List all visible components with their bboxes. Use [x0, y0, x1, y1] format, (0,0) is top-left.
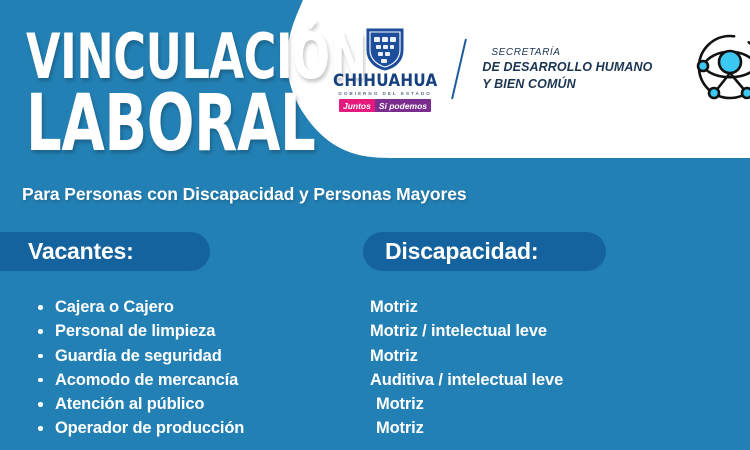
- list-item: Atención al público: [38, 392, 244, 416]
- list-item: Motriz: [370, 295, 563, 319]
- list-item: Motriz / intelectual leve: [370, 319, 563, 343]
- list-item: Personal de limpieza: [38, 319, 244, 343]
- tagline-juntos: Juntos: [339, 99, 375, 112]
- poster-canvas: VINCULACIÓN LABORAL Para Personas con Di…: [0, 0, 750, 450]
- section-header-discapacidad: Discapacidad:: [363, 232, 606, 271]
- tagline-si-podemos: Sí podemos: [375, 99, 431, 112]
- chihuahua-subtitle: GOBIERNO DEL ESTADO: [338, 91, 431, 96]
- poster-title: VINCULACIÓN LABORAL: [26, 28, 326, 161]
- title-line-2: LABORAL: [26, 89, 266, 161]
- section-header-vacantes: Vacantes:: [0, 232, 210, 271]
- secretaria-line-3: Y BIEN COMÚN: [482, 76, 652, 93]
- list-item: Acomodo de mercancía: [38, 368, 244, 392]
- secretaria-line-1: SECRETARÍA: [482, 46, 652, 59]
- poster-subtitle: Para Personas con Discapacidad y Persona…: [22, 184, 467, 205]
- list-item: Guardia de seguridad: [38, 344, 244, 368]
- secretaria-line-2: DE DESARROLLO HUMANO: [482, 59, 652, 76]
- list-item: Cajera o Cajero: [38, 295, 244, 319]
- logo-divider: [451, 39, 467, 100]
- chihuahua-wordmark: CHIHUAHUA: [333, 73, 438, 90]
- list-item: Motriz: [370, 344, 563, 368]
- vacantes-list: Cajera o Cajero Personal de limpieza Gua…: [38, 295, 244, 441]
- logo-row: CHIHUAHUA GOBIERNO DEL ESTADO Juntos Sí …: [336, 26, 750, 112]
- list-item: Auditiva / intelectual leve: [370, 368, 563, 392]
- chihuahua-shield-icon: [364, 26, 406, 72]
- network-eye-icon: [692, 29, 750, 110]
- list-item: Motriz: [370, 392, 563, 416]
- title-line-1: VINCULACIÓN: [26, 28, 266, 85]
- chihuahua-tagline: Juntos Sí podemos: [339, 99, 431, 112]
- discapacidad-list: Motriz Motriz / intelectual leve Motriz …: [370, 295, 563, 441]
- secretaria-block: SECRETARÍA DE DESARROLLO HUMANO Y BIEN C…: [482, 46, 652, 92]
- list-item: Operador de producción: [38, 416, 244, 440]
- list-item: Motriz: [370, 416, 563, 440]
- chihuahua-logo: CHIHUAHUA GOBIERNO DEL ESTADO Juntos Sí …: [336, 26, 434, 112]
